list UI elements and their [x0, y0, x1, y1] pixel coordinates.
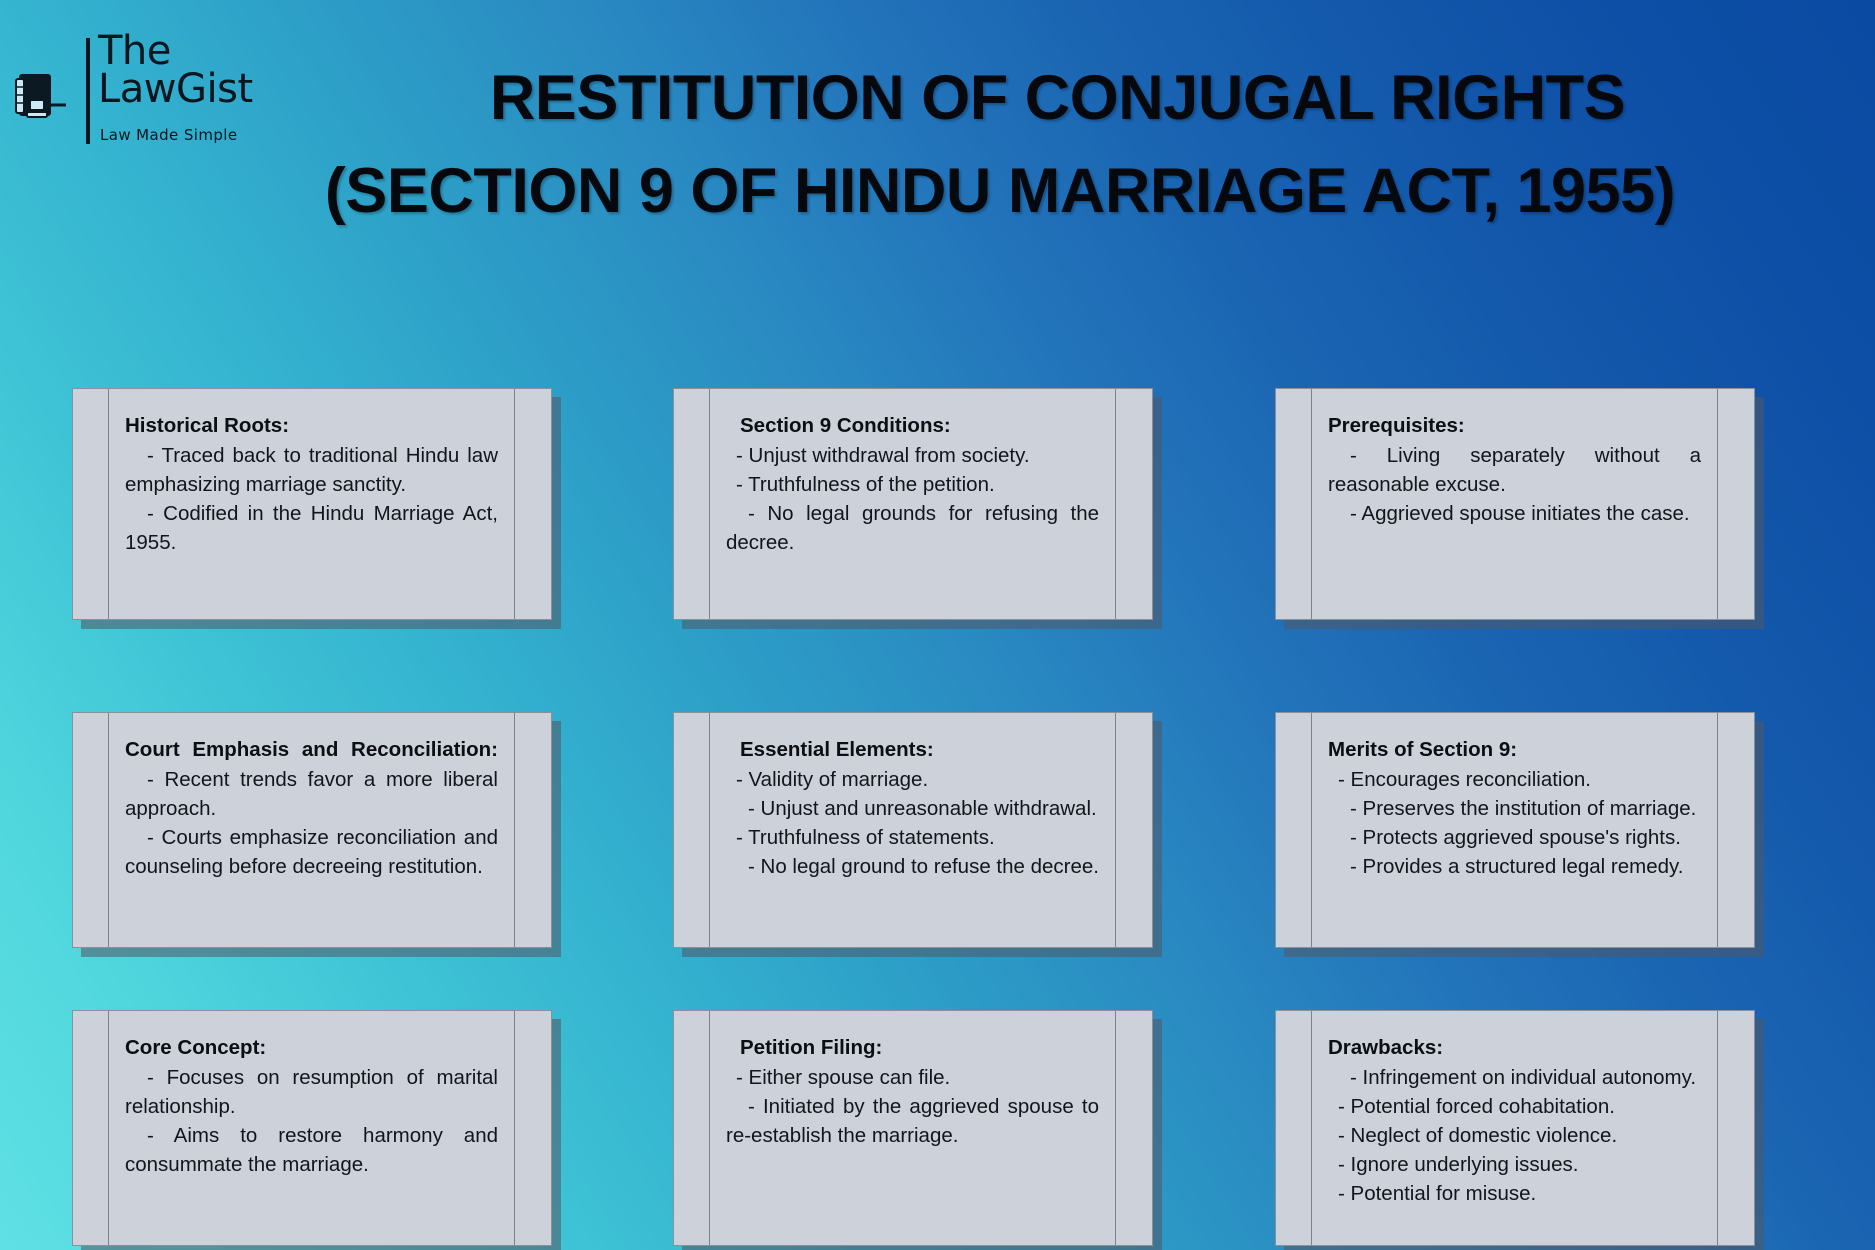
infographic-poster: The LawGist Law Made Simple RESTITUTION … [0, 0, 1875, 1250]
card-body: Core Concept:- Focuses on resumption of … [109, 1011, 515, 1245]
card-list-item: - Initiated by the aggrieved spouse to r… [726, 1092, 1099, 1150]
info-card: Historical Roots:- Traced back to tradit… [72, 388, 552, 620]
info-card: Core Concept:- Focuses on resumption of … [72, 1010, 552, 1246]
card-tail-strip [1116, 389, 1152, 619]
card-tail-strip [1718, 1011, 1754, 1245]
card-tail-strip [1718, 389, 1754, 619]
card-title: Petition Filing: [726, 1033, 1099, 1062]
card-title: Prerequisites: [1328, 411, 1701, 440]
card-list-item: - Living separately without a reasonable… [1328, 441, 1701, 499]
card-list-item: - Truthfulness of the petition. [726, 470, 1099, 499]
card-tail-strip [1116, 713, 1152, 947]
card-title: Section 9 Conditions: [726, 411, 1099, 440]
info-card: Petition Filing:- Either spouse can file… [673, 1010, 1153, 1246]
card-title: Core Concept: [125, 1033, 498, 1062]
card-title: Drawbacks: [1328, 1033, 1701, 1062]
card-body: Court Emphasis and Reconciliation:- Rece… [109, 713, 515, 947]
card-title: Historical Roots: [125, 411, 498, 440]
card-list-item: - Recent trends favor a more liberal app… [125, 765, 498, 823]
card-title: Essential Elements: [726, 735, 1099, 764]
card-list-item: - Encourages reconciliation. [1328, 765, 1701, 794]
card-list-item: - Traced back to traditional Hindu law e… [125, 441, 498, 499]
card-accent-strip [73, 1011, 109, 1245]
card-list-item: - Preserves the institution of marriage. [1328, 794, 1701, 823]
info-card: Essential Elements:- Validity of marriag… [673, 712, 1153, 948]
info-card: Drawbacks:- Infringement on individual a… [1275, 1010, 1755, 1246]
card-list-item: - Either spouse can file. [726, 1063, 1099, 1092]
info-card: Court Emphasis and Reconciliation:- Rece… [72, 712, 552, 948]
card-list-item: - Validity of marriage. [726, 765, 1099, 794]
card-body: Merits of Section 9:- Encourages reconci… [1312, 713, 1718, 947]
card-list-item: - Courts emphasize reconciliation and co… [125, 823, 498, 881]
card-list-item: - Potential forced cohabitation. [1328, 1092, 1701, 1121]
card-list-item: - No legal grounds for refusing the decr… [726, 499, 1099, 557]
card-list-item: - Infringement on individual autonomy. [1328, 1063, 1701, 1092]
card-list-item: - Focuses on resumption of marital relat… [125, 1063, 498, 1121]
card-list-item: - No legal ground to refuse the decree. [726, 852, 1099, 881]
card-list-item: - Unjust withdrawal from society. [726, 441, 1099, 470]
card-list-item: - Protects aggrieved spouse's rights. [1328, 823, 1701, 852]
card-tail-strip [515, 713, 551, 947]
info-card: Section 9 Conditions:- Unjust withdrawal… [673, 388, 1153, 620]
card-body: Essential Elements:- Validity of marriag… [710, 713, 1116, 947]
card-accent-strip [1276, 713, 1312, 947]
card-accent-strip [674, 713, 710, 947]
card-accent-strip [1276, 389, 1312, 619]
card-list-item: - Aggrieved spouse initiates the case. [1328, 499, 1701, 528]
card-list-item: - Unjust and unreasonable withdrawal. [726, 794, 1099, 823]
card-tail-strip [515, 1011, 551, 1245]
card-list-item: - Ignore underlying issues. [1328, 1150, 1701, 1179]
card-list-item: - Codified in the Hindu Marriage Act, 19… [125, 499, 498, 557]
info-card: Prerequisites:- Living separately withou… [1275, 388, 1755, 620]
card-list-item: - Truthfulness of statements. [726, 823, 1099, 852]
card-body: Petition Filing:- Either spouse can file… [710, 1011, 1116, 1245]
card-body: Prerequisites:- Living separately withou… [1312, 389, 1718, 619]
card-accent-strip [674, 1011, 710, 1245]
card-tail-strip [1116, 1011, 1152, 1245]
card-title: Merits of Section 9: [1328, 735, 1701, 764]
card-body: Historical Roots:- Traced back to tradit… [109, 389, 515, 619]
card-tail-strip [1718, 713, 1754, 947]
card-grid: Historical Roots:- Traced back to tradit… [0, 0, 1875, 1250]
card-accent-strip [1276, 1011, 1312, 1245]
card-list-item: - Potential for misuse. [1328, 1179, 1701, 1208]
card-body: Drawbacks:- Infringement on individual a… [1312, 1011, 1718, 1245]
card-accent-strip [73, 713, 109, 947]
card-list-item: - Provides a structured legal remedy. [1328, 852, 1701, 881]
card-tail-strip [515, 389, 551, 619]
card-accent-strip [73, 389, 109, 619]
card-accent-strip [674, 389, 710, 619]
card-list-item: - Aims to restore harmony and consummate… [125, 1121, 498, 1179]
card-title: Court Emphasis and Reconciliation: [125, 735, 498, 764]
info-card: Merits of Section 9:- Encourages reconci… [1275, 712, 1755, 948]
card-list-item: - Neglect of domestic violence. [1328, 1121, 1701, 1150]
card-body: Section 9 Conditions:- Unjust withdrawal… [710, 389, 1116, 619]
